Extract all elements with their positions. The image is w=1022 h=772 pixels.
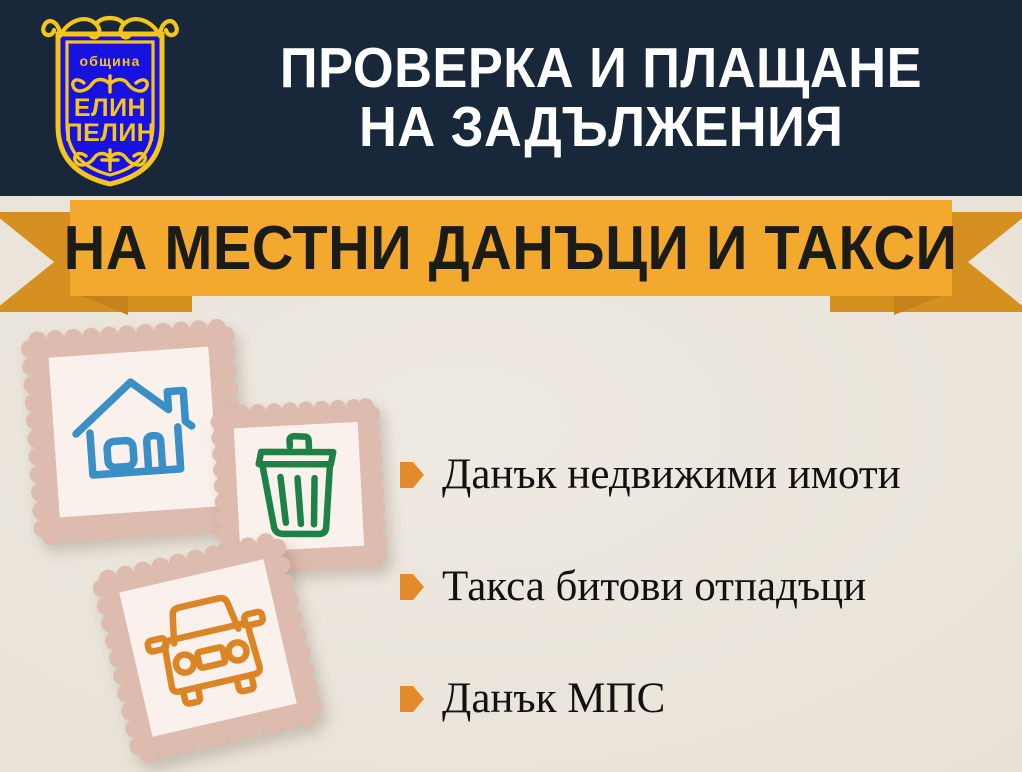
tax-type-list: Данък недвижими имоти Такса битови отпад… — [400, 418, 1010, 754]
crest-name-line2: ПЕЛИН — [65, 119, 156, 147]
list-item[interactable]: Данък МПС — [400, 642, 1010, 754]
subtitle-ribbon: НА МЕСТНИ ДАНЪЦИ И ТАКСИ — [0, 190, 1022, 320]
car-stamp-svg — [88, 528, 328, 768]
page-title: ПРОВЕРКА И ПЛАЩАНЕ НА ЗАДЪЛЖЕНИЯ — [196, 16, 1006, 180]
stamp-card-vehicle-tax — [88, 528, 328, 768]
arrow-pentagon-bullet-icon — [400, 574, 424, 600]
page-title-line-1: ПРОВЕРКА И ПЛАЩАНЕ — [280, 39, 922, 98]
arrow-pentagon-bullet-icon — [400, 686, 424, 712]
list-item[interactable]: Такса битови отпадъци — [400, 530, 1010, 642]
list-item-label: Такса битови отпадъци — [442, 565, 866, 608]
ribbon-label: НА МЕСТНИ ДАНЪЦИ И ТАКСИ — [64, 213, 958, 284]
arrow-pentagon-bullet-icon — [400, 462, 424, 488]
list-item-label: Данък МПС — [442, 677, 665, 720]
page-title-line-2: НА ЗАДЪЛЖЕНИЯ — [359, 98, 843, 157]
crest-name-line1: ЕЛИН — [74, 94, 146, 122]
list-item[interactable]: Данък недвижими имоти — [400, 418, 1010, 530]
ribbon-banner: НА МЕСТНИ ДАНЪЦИ И ТАКСИ — [70, 200, 952, 296]
municipality-crest-logo: община ЕЛИН ПЕЛИН — [34, 8, 186, 188]
crest-svg: община ЕЛИН ПЕЛИН — [34, 8, 186, 188]
page-header: община ЕЛИН ПЕЛИН ПРОВЕРКА И ПЛАЩАНЕ НА … — [0, 0, 1022, 196]
crest-municipality-label: община — [79, 53, 140, 69]
list-item-label: Данък недвижими имоти — [442, 453, 901, 496]
